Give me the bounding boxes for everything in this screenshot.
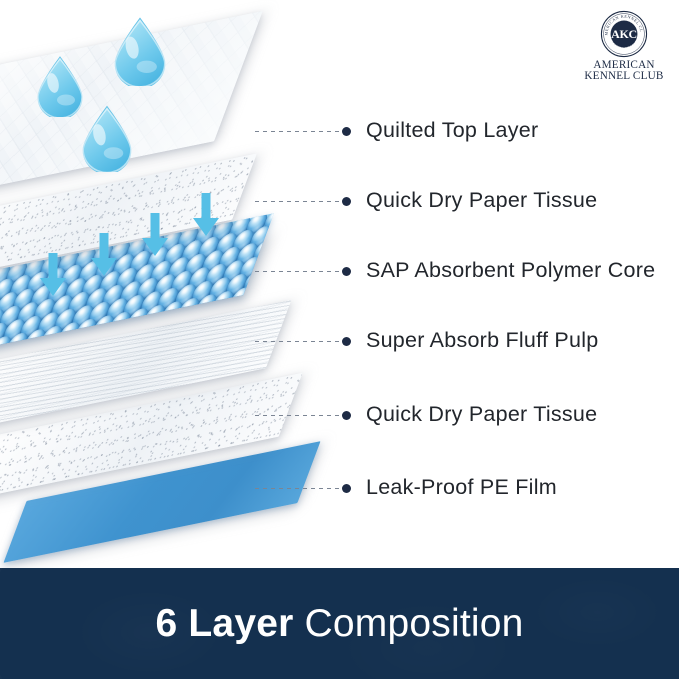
callout-leak-proof-pe-film: Leak-Proof PE Film — [255, 474, 557, 502]
callout-sap-absorbent-polymer-core: SAP Absorbent Polymer Core — [255, 257, 655, 285]
leader-dot — [342, 197, 351, 206]
leader-line — [255, 341, 339, 342]
leader-line — [255, 131, 339, 132]
title-bar: 6 Layer Composition — [0, 568, 679, 679]
leader-dot — [342, 484, 351, 493]
product-layer-infographic: AMERICAN KENNEL CLUB FOUNDED 1884 AKC AM… — [0, 0, 679, 679]
callout-label: Quick Dry Paper Tissue — [366, 190, 597, 212]
page-title-light: Composition — [305, 602, 524, 645]
page-title-strong: 6 Layer — [155, 602, 293, 645]
callout-label: Super Absorb Fluff Pulp — [366, 330, 598, 352]
leader-line — [255, 415, 339, 416]
callout-label: Quick Dry Paper Tissue — [366, 404, 597, 426]
leader-dot — [342, 337, 351, 346]
leader-dot — [342, 267, 351, 276]
leader-dot — [342, 127, 351, 136]
callout-super-absorb-fluff-pulp: Super Absorb Fluff Pulp — [255, 327, 598, 355]
callout-quick-dry-paper-tissue-1: Quick Dry Paper Tissue — [255, 187, 597, 215]
leader-line — [255, 271, 339, 272]
callout-label: SAP Absorbent Polymer Core — [366, 260, 655, 282]
leader-dot — [342, 411, 351, 420]
callout-quick-dry-paper-tissue-2: Quick Dry Paper Tissue — [255, 401, 597, 429]
callout-label: Leak-Proof PE Film — [366, 477, 557, 499]
leader-line — [255, 488, 339, 489]
callout-label: Quilted Top Layer — [366, 120, 538, 142]
callout-quilted-top-layer: Quilted Top Layer — [255, 117, 538, 145]
layer-callout-list: Quilted Top Layer Quick Dry Paper Tissue… — [0, 0, 679, 575]
page-title: 6 Layer Composition — [155, 604, 523, 643]
leader-line — [255, 201, 339, 202]
